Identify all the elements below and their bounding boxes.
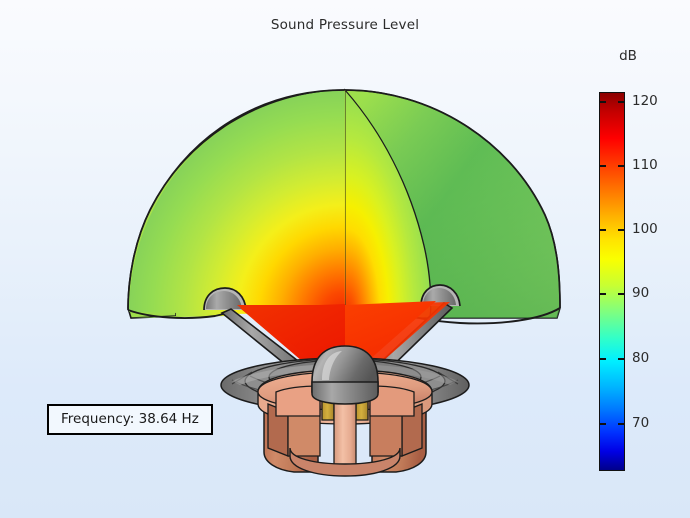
colorbar-tick-90-left (599, 293, 606, 295)
colorbar-tick-100-left (599, 229, 606, 231)
colorbar-tick-label-80: 80 (632, 350, 649, 366)
acoustic-pressure-dome[interactable] (128, 90, 560, 323)
page-title: Sound Pressure Level (0, 17, 690, 33)
colorbar-tick-70-left (599, 423, 606, 425)
colorbar-tick-120-right (618, 101, 625, 103)
colorbar-gradient (599, 92, 625, 471)
colorbar-tick-label-120: 120 (632, 93, 658, 109)
frequency-annotation: Frequency: 38.64 Hz (47, 404, 213, 435)
colorbar-unit-label: dB (604, 48, 652, 64)
colorbar-tick-80-left (599, 358, 606, 360)
dome-field-left (129, 90, 345, 314)
colorbar-tick-90-right (618, 293, 625, 295)
colorbar-tick-label-70: 70 (632, 415, 649, 431)
colorbar[interactable]: 120 110 100 90 80 70 (599, 92, 625, 471)
colorbar-tick-label-110: 110 (632, 157, 658, 173)
model-viewport[interactable] (0, 0, 690, 518)
colorbar-tick-110-left (599, 165, 606, 167)
dust-cap-collar (312, 382, 378, 404)
colorbar-tick-110-right (618, 165, 625, 167)
plot-canvas: Sound Pressure Level dB 120 110 100 90 8… (0, 0, 690, 518)
colorbar-tick-120-left (599, 101, 606, 103)
colorbar-tick-80-right (618, 358, 625, 360)
colorbar-tick-100-right (618, 229, 625, 231)
colorbar-tick-label-100: 100 (632, 221, 658, 237)
colorbar-tick-70-right (618, 423, 625, 425)
colorbar-tick-label-90: 90 (632, 285, 649, 301)
